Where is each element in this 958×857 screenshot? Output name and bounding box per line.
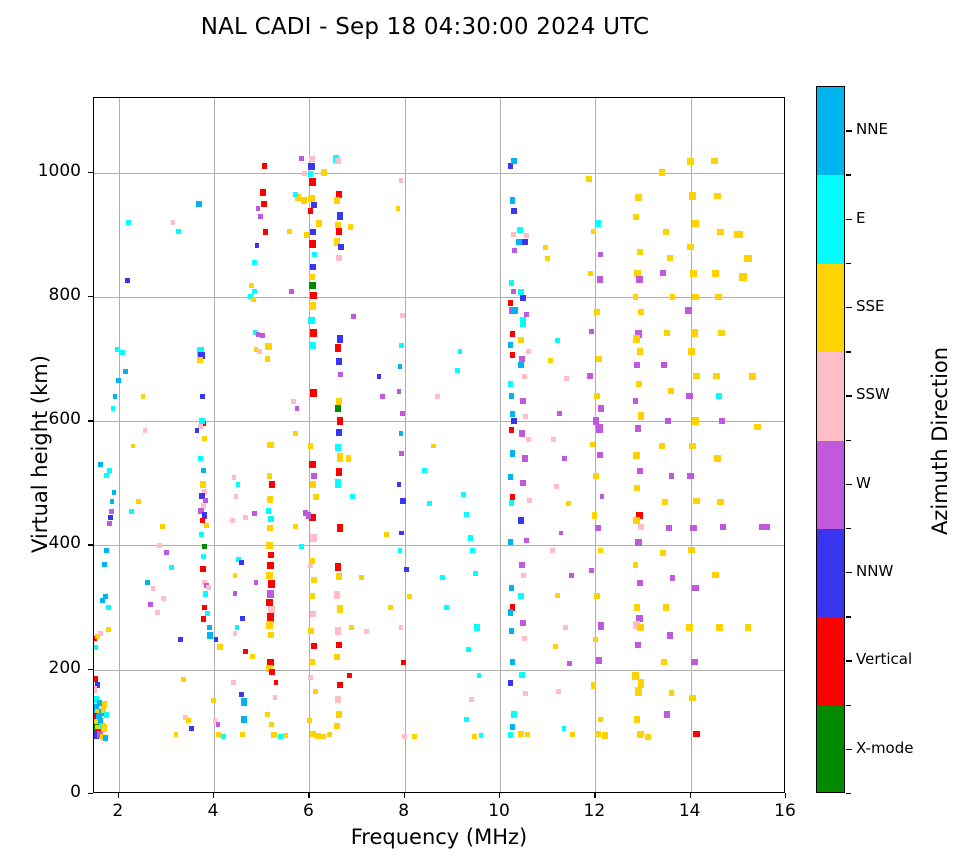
echo-mark	[664, 711, 670, 717]
echo-mark	[686, 624, 693, 630]
echo-mark	[510, 411, 516, 417]
echo-mark	[717, 499, 724, 505]
echo-mark	[310, 264, 316, 270]
colorbar-tick	[846, 395, 852, 396]
echo-mark	[233, 573, 238, 578]
echo-mark	[508, 381, 514, 387]
echo-mark	[509, 628, 515, 634]
echo-mark	[397, 389, 402, 394]
echo-mark	[744, 255, 752, 262]
colorbar-label-x-mode: X-mode	[856, 739, 913, 757]
echo-mark	[690, 525, 697, 531]
echo-mark	[562, 456, 567, 461]
echo-mark	[508, 300, 514, 306]
echo-mark	[266, 621, 273, 628]
echo-mark	[522, 239, 528, 245]
echo-mark	[509, 427, 515, 433]
echo-mark	[551, 437, 556, 442]
echo-mark	[689, 192, 697, 199]
echo-mark	[257, 349, 262, 354]
echo-mark	[265, 712, 270, 717]
echo-mark	[555, 338, 560, 343]
plot-area[interactable]	[93, 97, 785, 793]
echo-mark	[337, 335, 344, 342]
echo-mark	[589, 568, 594, 573]
echo-mark	[204, 523, 209, 528]
echo-mark	[689, 695, 696, 701]
colorbar-label-sse: SSE	[856, 297, 885, 315]
echo-mark	[687, 244, 694, 250]
echo-mark	[336, 642, 342, 648]
echo-mark	[589, 329, 594, 334]
echo-mark	[396, 206, 401, 211]
echo-mark	[110, 499, 115, 504]
echo-mark	[207, 632, 213, 639]
echo-mark	[511, 289, 516, 294]
echo-mark	[217, 644, 223, 650]
echo-mark	[659, 169, 665, 175]
gridline-vertical	[405, 98, 406, 792]
echo-mark	[107, 468, 112, 473]
echo-mark	[313, 689, 318, 694]
colorbar-tick	[846, 484, 852, 485]
gridline-vertical	[500, 98, 501, 792]
echo-mark	[404, 567, 409, 572]
echo-mark	[602, 732, 608, 738]
echo-mark	[510, 331, 516, 337]
echo-mark	[591, 682, 597, 689]
echo-mark	[664, 330, 670, 336]
echo-mark	[717, 229, 724, 235]
echo-mark	[350, 494, 355, 499]
echo-mark	[667, 632, 673, 638]
echo-mark	[93, 686, 97, 692]
echo-mark	[308, 675, 313, 680]
echo-mark	[400, 313, 405, 318]
echo-mark	[129, 509, 134, 514]
echo-mark	[302, 171, 307, 176]
echo-mark	[236, 482, 241, 487]
gridline-horizontal	[94, 297, 784, 298]
echo-mark	[349, 625, 354, 630]
echo-mark	[590, 442, 595, 447]
page-title: NAL CADI - Sep 18 04:30:00 2024 UTC	[0, 14, 850, 40]
echo-mark	[145, 580, 150, 585]
echo-mark	[593, 473, 599, 479]
echo-mark	[111, 406, 116, 411]
echo-mark	[597, 276, 603, 282]
echo-mark	[634, 604, 640, 610]
echo-mark	[716, 393, 722, 399]
echo-mark	[466, 647, 471, 652]
echo-mark	[508, 609, 514, 615]
echo-mark	[662, 499, 668, 505]
echo-mark	[196, 201, 202, 207]
echo-mark	[518, 593, 524, 599]
echo-mark	[252, 511, 257, 516]
echo-mark	[670, 575, 676, 581]
colorbar-label-nnw: NNW	[856, 562, 893, 580]
x-tick	[308, 793, 309, 798]
x-tick	[118, 793, 119, 798]
y-tick	[88, 669, 93, 670]
echo-mark	[399, 451, 404, 456]
echo-mark	[336, 228, 343, 235]
echo-mark	[310, 534, 317, 541]
echo-mark	[303, 510, 309, 516]
echo-mark	[263, 229, 269, 235]
echo-mark	[337, 453, 344, 462]
echo-mark	[195, 428, 200, 433]
echo-mark	[299, 156, 304, 161]
echo-mark	[143, 428, 147, 433]
echo-mark	[745, 624, 752, 630]
echo-mark	[309, 593, 315, 599]
colorbar-boundary-tick	[846, 174, 851, 175]
echo-mark	[545, 256, 550, 261]
echo-mark	[321, 734, 326, 739]
y-tick	[88, 296, 93, 297]
echo-mark	[634, 485, 640, 491]
echo-mark	[688, 547, 695, 553]
echo-mark	[659, 443, 665, 449]
x-tick-label: 10	[459, 801, 539, 821]
colorbar-label-ssw: SSW	[856, 385, 890, 403]
echo-mark	[635, 539, 642, 546]
echo-mark	[106, 605, 111, 610]
echo-mark	[274, 680, 279, 685]
echo-mark	[313, 494, 319, 500]
echo-mark	[508, 680, 514, 686]
echo-mark	[160, 524, 165, 529]
echo-mark	[686, 393, 693, 399]
echo-mark	[309, 302, 316, 309]
echo-mark	[525, 732, 530, 737]
echo-mark	[511, 208, 517, 214]
echo-mark	[123, 369, 128, 374]
echo-mark	[203, 591, 209, 597]
echo-mark	[637, 348, 643, 354]
echo-mark	[308, 563, 313, 568]
echo-mark	[470, 548, 475, 553]
echo-mark	[635, 642, 641, 648]
echo-mark	[398, 364, 403, 369]
echo-mark	[178, 637, 183, 642]
echo-mark	[598, 717, 603, 722]
echo-mark	[518, 731, 524, 737]
echo-mark	[309, 240, 316, 247]
echo-mark	[233, 631, 238, 636]
echo-mark	[201, 554, 206, 559]
echo-mark	[520, 295, 526, 301]
echo-mark	[103, 735, 108, 741]
echo-mark	[243, 515, 248, 520]
x-tick	[785, 793, 786, 798]
echo-mark	[256, 206, 261, 211]
echo-mark	[334, 654, 340, 660]
echo-mark	[283, 733, 288, 738]
echo-mark	[512, 307, 518, 313]
echo-mark	[444, 605, 449, 610]
echo-mark	[520, 620, 526, 626]
echo-mark	[198, 456, 203, 461]
echo-mark	[556, 689, 561, 694]
x-tick-label: 12	[554, 801, 634, 821]
y-axis-label: Virtual height (km)	[28, 355, 52, 553]
echo-mark	[716, 624, 723, 630]
echo-mark	[509, 585, 515, 591]
echo-mark	[566, 501, 571, 506]
echo-mark	[637, 731, 644, 738]
echo-mark	[336, 573, 343, 580]
echo-mark	[670, 294, 676, 300]
colorbar-segment-nne[interactable]	[817, 87, 844, 176]
echo-mark	[102, 562, 107, 567]
echo-mark	[474, 624, 480, 631]
echo-mark	[548, 358, 553, 363]
x-tick-label: 14	[650, 801, 730, 821]
echo-mark	[510, 352, 516, 358]
echo-mark	[734, 231, 743, 238]
echo-mark	[519, 562, 525, 568]
echo-mark	[692, 294, 699, 300]
ionogram-figure: NAL CADI - Sep 18 04:30:00 2024 UTC 0200…	[0, 0, 958, 857]
x-tick-label: 6	[268, 801, 348, 821]
colorbar-label-e: E	[856, 209, 865, 227]
echo-mark	[713, 373, 720, 379]
echo-mark	[113, 394, 118, 399]
echo-mark	[587, 373, 593, 379]
echo-mark	[189, 726, 194, 731]
echo-mark	[321, 169, 327, 175]
y-tick-label: 1000	[0, 161, 81, 181]
echo-mark	[116, 378, 121, 383]
echo-mark	[291, 399, 296, 404]
y-tick-label: 200	[0, 658, 81, 678]
echo-mark	[338, 244, 344, 250]
colorbar-tick	[846, 660, 852, 661]
echo-mark	[412, 734, 417, 739]
echo-mark	[512, 248, 517, 253]
echo-mark	[359, 575, 364, 580]
echo-mark	[472, 734, 477, 739]
echo-mark	[384, 532, 389, 537]
echo-mark	[685, 307, 692, 313]
echo-mark	[523, 691, 528, 696]
colorbar-segment-w[interactable]	[817, 441, 844, 530]
echo-mark	[693, 731, 700, 737]
echo-mark	[399, 343, 404, 348]
echo-mark	[517, 227, 523, 233]
echo-mark	[666, 525, 672, 531]
echo-mark	[522, 455, 528, 461]
y-tick	[88, 793, 93, 794]
echo-mark	[594, 593, 600, 599]
echo-mark	[151, 586, 156, 591]
colorbar-segment-e[interactable]	[817, 175, 844, 264]
echo-mark	[518, 337, 524, 343]
echo-mark	[309, 178, 316, 185]
gridline-horizontal	[94, 173, 784, 174]
echo-mark	[712, 270, 720, 277]
echo-mark	[519, 672, 525, 678]
echo-mark	[295, 406, 300, 411]
echo-mark	[638, 309, 644, 315]
echo-mark	[597, 452, 603, 458]
gridline-horizontal	[94, 670, 784, 671]
echo-mark	[638, 412, 645, 419]
y-tick	[88, 544, 93, 545]
echo-mark	[335, 563, 342, 570]
x-tick-label: 16	[745, 801, 825, 821]
echo-mark	[598, 405, 604, 412]
echo-mark	[524, 538, 529, 543]
echo-mark	[509, 393, 515, 399]
echo-mark	[633, 214, 639, 220]
echo-mark	[598, 548, 603, 553]
echo-mark	[268, 552, 274, 558]
echo-mark	[243, 649, 248, 654]
colorbar[interactable]	[816, 86, 845, 793]
echo-mark	[267, 562, 274, 569]
echo-mark	[660, 270, 666, 276]
echo-mark	[336, 255, 342, 261]
echo-mark	[400, 411, 405, 416]
echo-mark	[265, 356, 271, 362]
echo-mark	[468, 535, 474, 541]
echo-mark	[712, 572, 719, 578]
echo-mark	[520, 317, 527, 327]
echo-mark	[559, 531, 564, 536]
echo-mark	[104, 548, 109, 553]
echo-mark	[266, 599, 273, 606]
echo-mark	[711, 158, 718, 164]
echo-mark	[125, 278, 130, 283]
colorbar-boundary-tick	[846, 440, 851, 441]
echo-mark	[309, 156, 315, 162]
colorbar-segment-nnw[interactable]	[817, 529, 844, 618]
echo-mark	[634, 362, 640, 368]
echo-mark	[720, 524, 727, 530]
colorbar-segment-vertical[interactable]	[817, 617, 844, 706]
echo-mark	[636, 381, 642, 387]
echo-mark	[268, 516, 274, 522]
echo-mark	[520, 398, 526, 404]
echo-mark	[407, 594, 412, 599]
echo-mark	[301, 197, 307, 203]
echo-mark	[461, 492, 466, 497]
echo-mark	[337, 682, 343, 688]
gridline-vertical	[214, 98, 215, 792]
colorbar-segment-sse[interactable]	[817, 264, 844, 353]
echo-mark	[310, 292, 317, 299]
echo-mark	[347, 673, 352, 678]
echo-mark	[637, 468, 643, 474]
colorbar-boundary-tick	[846, 528, 851, 529]
echo-mark	[258, 214, 263, 219]
echo-mark	[592, 512, 598, 518]
echo-mark	[271, 732, 277, 738]
echo-mark	[594, 393, 600, 399]
colorbar-segment-x-mode[interactable]	[817, 706, 844, 793]
echo-mark	[691, 659, 698, 665]
echo-mark	[239, 692, 244, 697]
echo-mark	[335, 479, 342, 488]
echo-mark	[714, 193, 721, 199]
echo-mark	[422, 468, 427, 473]
gridline-horizontal	[94, 421, 784, 422]
echo-mark	[232, 475, 237, 480]
echo-mark	[570, 732, 575, 737]
echo-mark	[221, 734, 226, 739]
colorbar-tick	[846, 219, 852, 220]
echo-mark	[596, 424, 603, 433]
colorbar-segment-ssw[interactable]	[817, 352, 844, 441]
echo-mark	[206, 585, 211, 590]
echo-mark	[104, 473, 109, 478]
echo-mark	[309, 342, 316, 349]
echo-mark	[186, 718, 191, 723]
echo-mark	[473, 571, 478, 576]
echo-mark	[171, 220, 176, 225]
echo-mark	[693, 373, 700, 379]
echo-mark	[346, 455, 352, 461]
echo-mark	[266, 572, 273, 579]
echo-mark	[398, 548, 403, 553]
echo-mark	[254, 580, 259, 585]
echo-mark	[688, 348, 695, 354]
echo-mark	[312, 252, 317, 257]
colorbar-tick	[846, 749, 852, 750]
echo-mark	[252, 260, 257, 265]
echo-mark	[397, 482, 402, 487]
echo-mark	[719, 418, 726, 424]
echo-mark	[104, 712, 109, 718]
echo-mark	[669, 473, 675, 479]
echo-mark	[718, 330, 725, 336]
echo-mark	[511, 418, 517, 424]
echo-mark	[200, 394, 205, 399]
echo-mark	[388, 605, 393, 610]
echo-mark	[399, 431, 404, 436]
echo-mark	[334, 197, 341, 204]
echo-mark	[691, 329, 699, 336]
echo-mark	[214, 637, 219, 642]
echo-mark	[308, 628, 314, 634]
echo-mark	[399, 178, 404, 183]
echo-mark	[249, 283, 254, 288]
gridline-vertical	[119, 98, 120, 792]
echo-mark	[518, 517, 524, 523]
echo-mark	[661, 659, 667, 665]
echo-mark	[161, 596, 166, 601]
echo-mark	[764, 524, 771, 530]
echo-mark	[522, 374, 527, 379]
echo-mark	[240, 616, 245, 621]
x-axis-label: Frequency (MHz)	[93, 825, 785, 849]
echo-mark	[148, 602, 153, 607]
echo-mark	[477, 673, 482, 678]
echo-mark	[431, 444, 436, 449]
echo-mark	[241, 716, 247, 723]
echo-mark	[251, 297, 256, 302]
echo-mark	[315, 733, 321, 739]
echo-mark	[527, 498, 532, 503]
echo-mark	[269, 722, 274, 727]
echo-mark	[511, 711, 517, 717]
echo-mark	[692, 220, 699, 226]
echo-mark	[336, 358, 342, 364]
